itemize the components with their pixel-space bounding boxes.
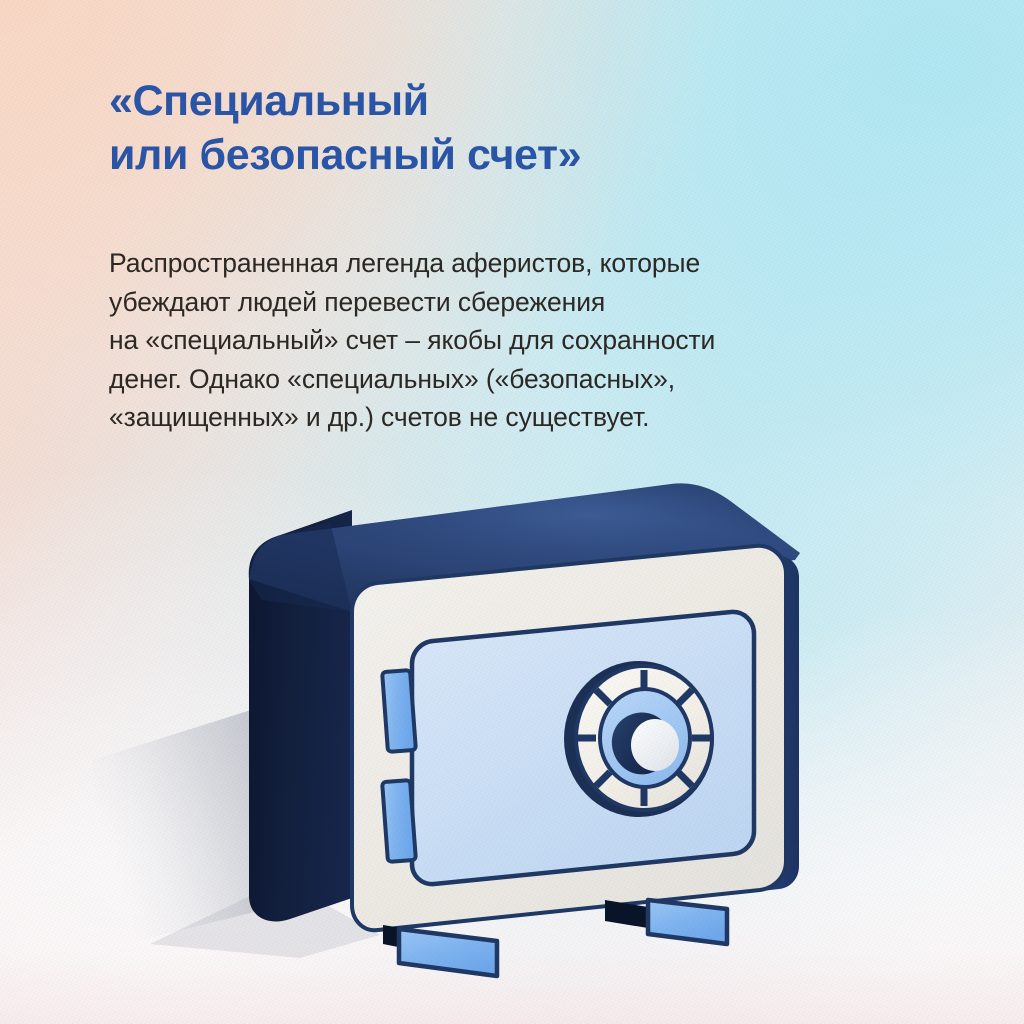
page-title: «Специальный или безопасный счет» (109, 74, 899, 182)
foot-left (399, 929, 497, 976)
text-block: «Специальный или безопасный счет» Распро… (109, 74, 899, 437)
hinge-lower (382, 780, 416, 862)
body-paragraph: Распространенная легенда аферистов, кото… (109, 182, 899, 437)
safe-door (352, 546, 786, 930)
poster-card: «Специальный или безопасный счет» Распро… (0, 0, 1024, 1024)
foot-right (648, 900, 727, 944)
combination-dial[interactable] (564, 661, 714, 817)
hinge-upper (382, 670, 416, 752)
